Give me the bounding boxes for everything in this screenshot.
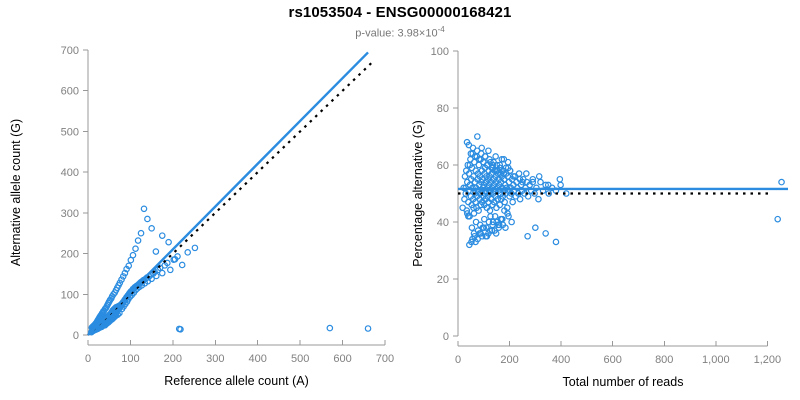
x-tick-label: 0 xyxy=(85,353,91,365)
x-axis xyxy=(88,340,385,345)
pvalue-mult: ×10 xyxy=(419,28,438,40)
pvalue-subtitle: p-value: 3.98×10-4 xyxy=(0,25,800,40)
y-tick-label: 0 xyxy=(73,330,79,342)
data-points xyxy=(460,134,784,248)
x-tick-label: 1,000 xyxy=(702,354,730,366)
y-axis xyxy=(83,50,88,335)
x-tick-label: 1,200 xyxy=(754,354,782,366)
right-scatter-panel: 02040608010002004006008001,0001,200Total… xyxy=(400,40,800,400)
left-scatter-panel: 0100200300400500600700010020030040050060… xyxy=(0,40,400,400)
right-plot-svg: 02040608010002004006008001,0001,200Total… xyxy=(400,40,800,400)
y-axis-title: Alternative allele count (G) xyxy=(9,119,23,266)
y-tick-label: 0 xyxy=(443,331,449,343)
y-tick-label: 20 xyxy=(437,274,449,286)
x-axis-title: Reference allele count (A) xyxy=(164,374,309,388)
x-tick-label: 300 xyxy=(206,353,224,365)
x-tick-label: 800 xyxy=(655,354,673,366)
x-axis xyxy=(458,341,767,346)
y-tick-label: 40 xyxy=(437,217,449,229)
y-tick-label: 700 xyxy=(61,45,79,57)
x-tick-label: 600 xyxy=(604,354,622,366)
x-tick-label: 500 xyxy=(291,353,309,365)
y-tick-label: 60 xyxy=(437,160,449,172)
y-tick-label: 100 xyxy=(61,289,79,301)
y-tick-label: 400 xyxy=(61,167,79,179)
x-axis-title: Total number of reads xyxy=(563,375,684,389)
y-tick-label: 300 xyxy=(61,208,79,220)
x-tick-label: 700 xyxy=(376,353,394,365)
x-tick-label: 100 xyxy=(121,353,139,365)
pvalue-exponent: -4 xyxy=(438,25,445,34)
x-tick-label: 200 xyxy=(500,354,518,366)
left-plot-svg: 0100200300400500600700010020030040050060… xyxy=(0,40,400,400)
x-tick-label: 0 xyxy=(455,354,461,366)
y-tick-label: 80 xyxy=(437,103,449,115)
y-axis xyxy=(453,51,458,336)
y-axis-title: Percentage alternative (G) xyxy=(411,120,425,267)
regression-line xyxy=(88,52,368,335)
y-tick-label: 200 xyxy=(61,249,79,261)
x-tick-label: 200 xyxy=(164,353,182,365)
x-tick-label: 400 xyxy=(249,353,267,365)
x-tick-label: 600 xyxy=(333,353,351,365)
y-tick-label: 100 xyxy=(431,46,449,58)
x-tick-label: 400 xyxy=(552,354,570,366)
pvalue-text: p-value: 3.98 xyxy=(355,28,419,40)
y-tick-label: 500 xyxy=(61,126,79,138)
page-title: rs1053504 - ENSG00000168421 xyxy=(0,4,800,21)
data-points xyxy=(89,206,371,335)
y-tick-label: 600 xyxy=(61,86,79,98)
chart-root: rs1053504 - ENSG00000168421 p-value: 3.9… xyxy=(0,0,800,400)
